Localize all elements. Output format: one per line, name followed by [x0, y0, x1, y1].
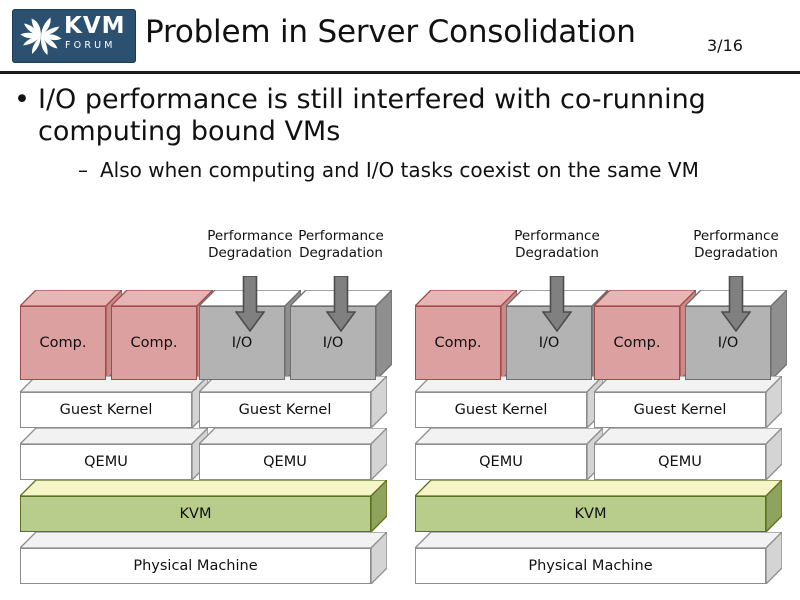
pinwheel-icon: [18, 13, 64, 59]
host-right-vm-comp-io-b-guest-kernel-label: Guest Kernel: [594, 392, 766, 428]
architecture-diagram: Comp.Comp.Guest KernelQEMUI/OPerformance…: [0, 228, 800, 573]
page-number: 3/16: [707, 36, 743, 55]
host-left-vm-io-io-qemu: QEMU: [199, 428, 387, 480]
sub-bullet-marker: –: [78, 158, 88, 182]
host-right-physical-machine-label: Physical Machine: [415, 548, 766, 584]
host-left-vm-comp-comp-cube-comp-1: Comp.: [111, 290, 213, 380]
host-left-vm-comp-comp-cube-comp-0: Comp.: [20, 290, 122, 380]
performance-degradation-caption: PerformanceDegradation: [676, 228, 796, 262]
host-right-kvm-label: KVM: [415, 496, 766, 532]
comp-label: Comp.: [111, 306, 197, 380]
deg-line2: Degradation: [515, 245, 599, 261]
deg-line2: Degradation: [694, 245, 778, 261]
host-right-vm-comp-io-b-qemu-label: QEMU: [594, 444, 766, 480]
logo-kvm-text: KVM: [64, 15, 134, 38]
logo-wordmark: KVM FORUM: [64, 15, 134, 51]
host-left-physical-machine: Physical Machine: [20, 532, 387, 584]
comp-label: Comp.: [594, 306, 680, 380]
slide-header: KVM FORUM Problem in Server Consolidatio…: [0, 0, 800, 72]
comp-label: Comp.: [20, 306, 106, 380]
host-left-vm-io-io-degradation-arrow-0: [235, 276, 265, 332]
deg-line1: Performance: [693, 228, 779, 244]
host-left-vm-comp-comp-guest-kernel: Guest Kernel: [20, 376, 208, 428]
host-right-vm-comp-io-b-cube-comp-0: Comp.: [594, 290, 696, 380]
host-right-vm-comp-io-a-degradation-arrow-1: [542, 276, 572, 332]
bullet-level2: – Also when computing and I/O tasks coex…: [78, 158, 800, 182]
host-left-vm-comp-comp-guest-kernel-label: Guest Kernel: [20, 392, 192, 428]
host-right-vm-comp-io-a-qemu-label: QEMU: [415, 444, 587, 480]
host-right-vm-comp-io-a-qemu: QEMU: [415, 428, 603, 480]
comp-label: Comp.: [415, 306, 501, 380]
logo-forum-text: FORUM: [65, 41, 134, 51]
bullet-marker: •: [14, 84, 30, 116]
header-divider: [0, 71, 800, 74]
bullet-list: • I/O performance is still interfered wi…: [0, 84, 800, 182]
bullet-level1: • I/O performance is still interfered wi…: [14, 84, 784, 147]
host-right-vm-comp-io-a-guest-kernel-label: Guest Kernel: [415, 392, 587, 428]
host-left-vm-comp-comp-qemu-label: QEMU: [20, 444, 192, 480]
deg-line1: Performance: [207, 228, 293, 244]
host-left-physical-machine-label: Physical Machine: [20, 548, 371, 584]
deg-line2: Degradation: [208, 245, 292, 261]
host-right-kvm: KVM: [415, 480, 782, 532]
host-left-vm-io-io-degradation-arrow-1: [326, 276, 356, 332]
host-right-vm-comp-io-a-cube-comp-0: Comp.: [415, 290, 517, 380]
performance-degradation-caption: PerformanceDegradation: [281, 228, 401, 262]
kvm-forum-logo: KVM FORUM: [12, 9, 136, 63]
deg-line2: Degradation: [299, 245, 383, 261]
host-left-kvm: KVM: [20, 480, 387, 532]
host-right-vm-comp-io-a-guest-kernel: Guest Kernel: [415, 376, 603, 428]
host-left-vm-io-io-guest-kernel-label: Guest Kernel: [199, 392, 371, 428]
host-left-vm-io-io-qemu-label: QEMU: [199, 444, 371, 480]
page-title: Problem in Server Consolidation: [145, 14, 636, 50]
host-left: Comp.Comp.Guest KernelQEMUI/OPerformance…: [20, 228, 387, 573]
deg-line1: Performance: [298, 228, 384, 244]
host-right-vm-comp-io-b-qemu: QEMU: [594, 428, 782, 480]
deg-line1: Performance: [514, 228, 600, 244]
performance-degradation-caption: PerformanceDegradation: [497, 228, 617, 262]
host-right-vm-comp-io-b-degradation-arrow-1: [721, 276, 751, 332]
host-right-physical-machine: Physical Machine: [415, 532, 782, 584]
host-left-vm-io-io-guest-kernel: Guest Kernel: [199, 376, 387, 428]
host-left-kvm-label: KVM: [20, 496, 371, 532]
host-right: Comp.I/OPerformanceDegradationGuest Kern…: [415, 228, 782, 573]
host-right-vm-comp-io-b-guest-kernel: Guest Kernel: [594, 376, 782, 428]
bullet-level1-text: I/O performance is still interfered with…: [38, 84, 784, 147]
bullet-level2-text: Also when computing and I/O tasks coexis…: [100, 158, 800, 182]
host-left-vm-comp-comp-qemu: QEMU: [20, 428, 208, 480]
